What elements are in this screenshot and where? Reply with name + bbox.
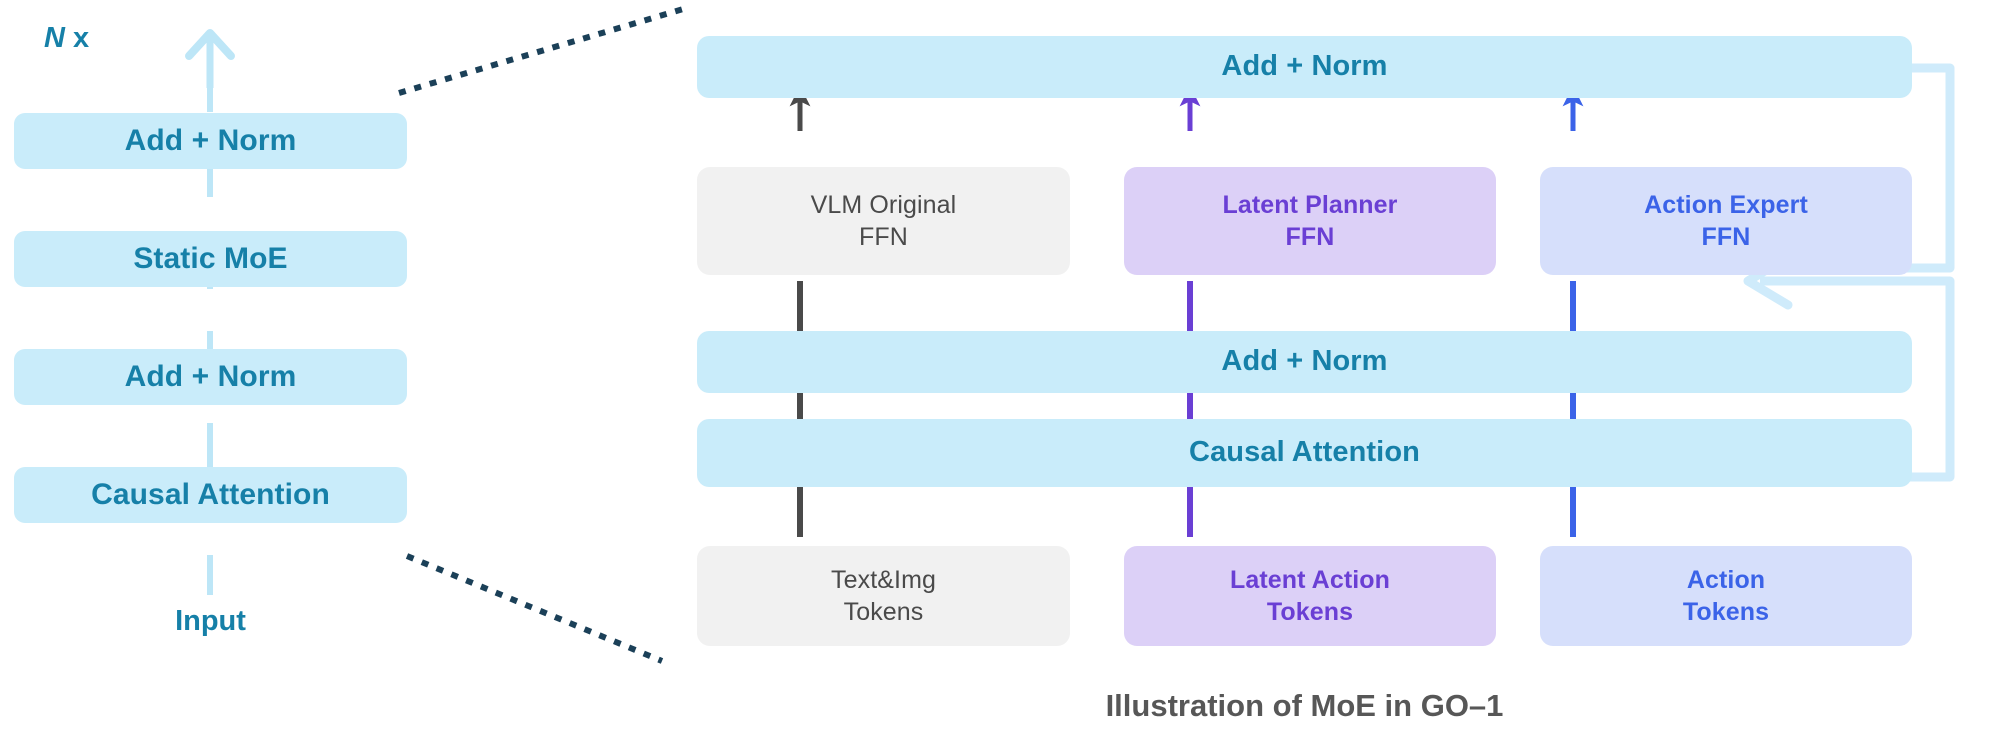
dotted-link-top (399, 7, 690, 93)
token-box-text-img[interactable]: Text&Img Tokens (697, 546, 1070, 646)
left-output-arrow (189, 33, 231, 88)
stem-latent-action-upper (1187, 281, 1193, 336)
stem-action-mid (1570, 393, 1576, 420)
left-block-causal-attention[interactable]: Causal Attention (14, 467, 407, 523)
stem-latent-action-lower (1187, 487, 1193, 537)
left-spine-segment-6 (207, 555, 213, 595)
left-input-label: Input (14, 605, 407, 638)
token-box-latent-action[interactable]: Latent Action Tokens (1124, 546, 1496, 646)
repeat-count-label: N x (44, 22, 89, 55)
expert-box-action-expert-ffn[interactable]: Action Expert FFN (1540, 167, 1912, 275)
repeat-count-times: x (65, 22, 89, 54)
left-block-add-norm-top[interactable]: Add + Norm (14, 113, 407, 169)
expert-box-vlm-original-ffn[interactable]: VLM Original FFN (697, 167, 1070, 275)
token-box-action[interactable]: Action Tokens (1540, 546, 1912, 646)
stem-action-upper (1570, 281, 1576, 336)
left-spine-segment-5 (207, 423, 213, 473)
figure-canvas: N x Add + Norm Static MoE Add + Norm Cau… (0, 0, 2014, 748)
right-block-add-norm-top[interactable]: Add + Norm (697, 36, 1912, 98)
left-spine-segment-1 (207, 88, 213, 112)
dotted-link-bottom (407, 556, 662, 661)
stem-text-img-lower (797, 487, 803, 537)
stem-latent-action-mid (1187, 393, 1193, 420)
right-block-add-norm-mid[interactable]: Add + Norm (697, 331, 1912, 393)
left-block-static-moe[interactable]: Static MoE (14, 231, 407, 287)
repeat-count-value: N (44, 22, 65, 54)
stem-action-lower (1570, 487, 1576, 537)
expert-box-latent-planner-ffn[interactable]: Latent Planner FFN (1124, 167, 1496, 275)
right-block-causal-attention[interactable]: Causal Attention (697, 419, 1912, 487)
left-block-add-norm-bottom[interactable]: Add + Norm (14, 349, 407, 405)
figure-caption: Illustration of MoE in GO–1 (697, 688, 1912, 724)
stem-text-img-mid (797, 393, 803, 420)
stem-text-img-upper (797, 281, 803, 336)
